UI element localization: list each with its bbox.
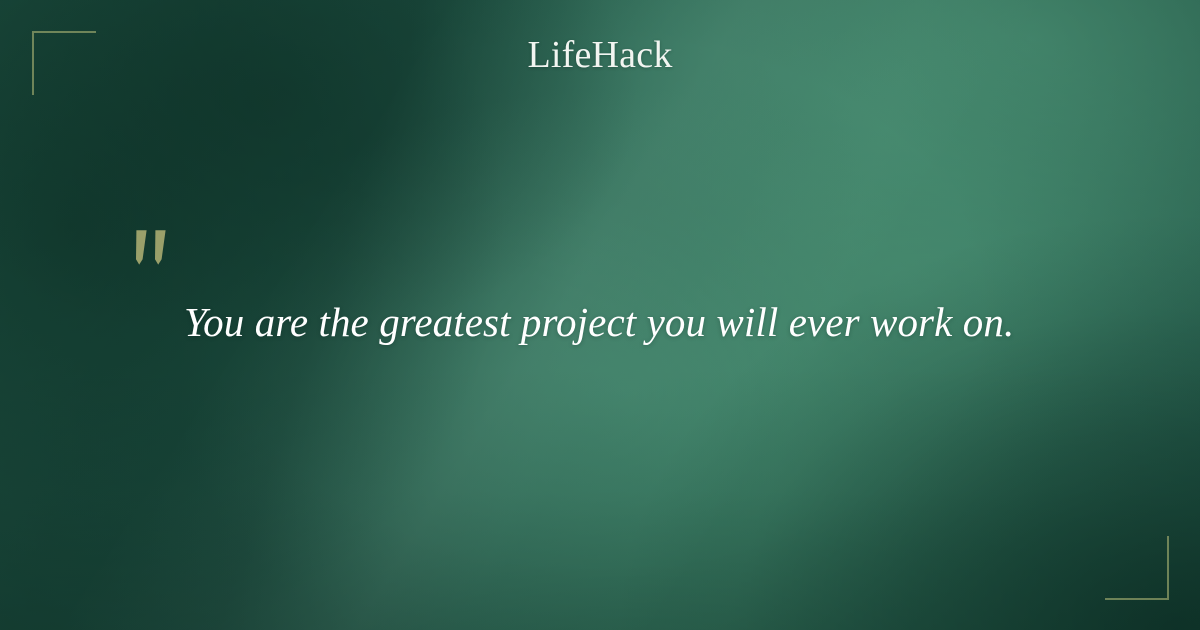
brand-logo: LifeHack <box>0 36 1200 74</box>
quote-card: LifeHack You are the greatest project yo… <box>0 0 1200 630</box>
quote-mark-icon <box>131 229 177 267</box>
quote-text: You are the greatest project you will ev… <box>184 297 1144 347</box>
corner-bracket-bottom-right-icon <box>1105 536 1169 600</box>
